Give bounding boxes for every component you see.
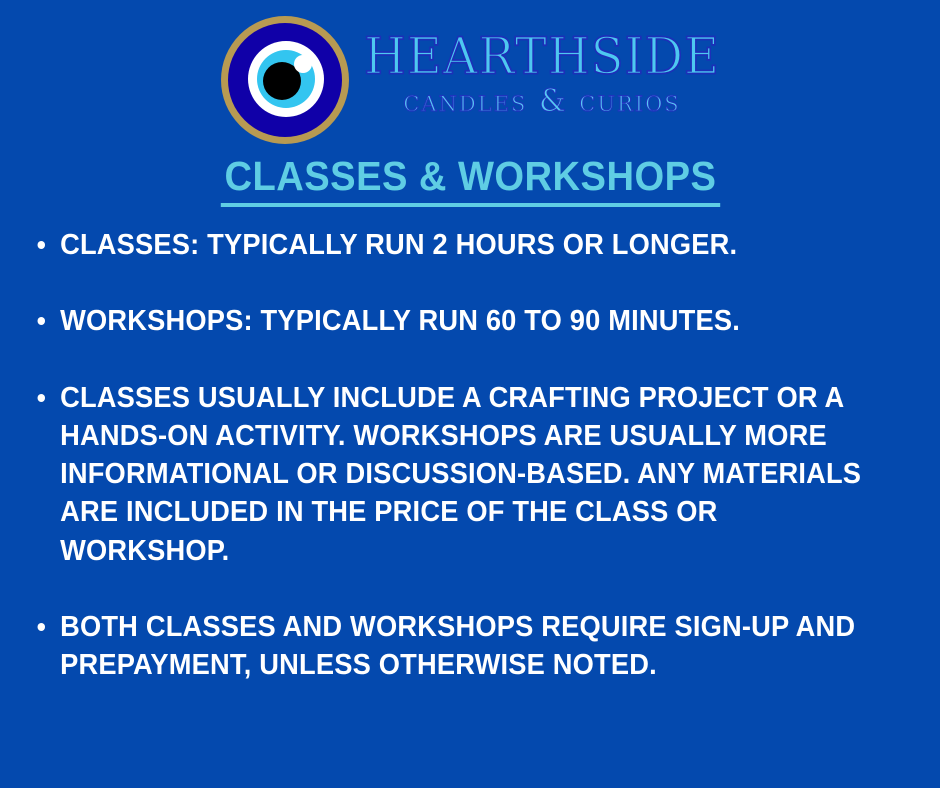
brand-wordmark: Hearthside Candles & Curios bbox=[364, 14, 720, 117]
evil-eye-icon bbox=[220, 15, 350, 145]
list-item: WORKSHOPS: TYPICALLY RUN 60 TO 90 MINUTE… bbox=[30, 302, 863, 340]
brand-name: Hearthside bbox=[364, 14, 720, 86]
list-item: CLASSES: TYPICALLY RUN 2 HOURS OR LONGER… bbox=[30, 226, 863, 264]
bullet-dot-icon bbox=[38, 623, 46, 631]
list-item-text: CLASSES USUALLY INCLUDE A CRAFTING PROJE… bbox=[60, 382, 861, 567]
bullet-dot-icon bbox=[38, 241, 46, 249]
page-title-container: CLASSES & WORKSHOPS bbox=[0, 155, 940, 207]
info-bullet-list: CLASSES: TYPICALLY RUN 2 HOURS OR LONGER… bbox=[30, 226, 916, 684]
page-title: CLASSES & WORKSHOPS bbox=[220, 155, 719, 207]
bullet-dot-icon bbox=[38, 317, 46, 325]
list-item-text: CLASSES: TYPICALLY RUN 2 HOURS OR LONGER… bbox=[60, 229, 737, 261]
brand-tagline: Candles & Curios bbox=[403, 86, 680, 117]
list-item-text: WORKSHOPS: TYPICALLY RUN 60 TO 90 MINUTE… bbox=[60, 305, 740, 337]
brand-header: Hearthside Candles & Curios bbox=[0, 12, 940, 152]
list-item-text: BOTH CLASSES AND WORKSHOPS REQUIRE SIGN-… bbox=[60, 611, 855, 681]
list-item: CLASSES USUALLY INCLUDE A CRAFTING PROJE… bbox=[30, 379, 863, 570]
bullet-dot-icon bbox=[38, 394, 46, 402]
list-item: BOTH CLASSES AND WORKSHOPS REQUIRE SIGN-… bbox=[30, 608, 863, 685]
poster-canvas: Hearthside Candles & Curios CLASSES & WO… bbox=[0, 0, 940, 788]
